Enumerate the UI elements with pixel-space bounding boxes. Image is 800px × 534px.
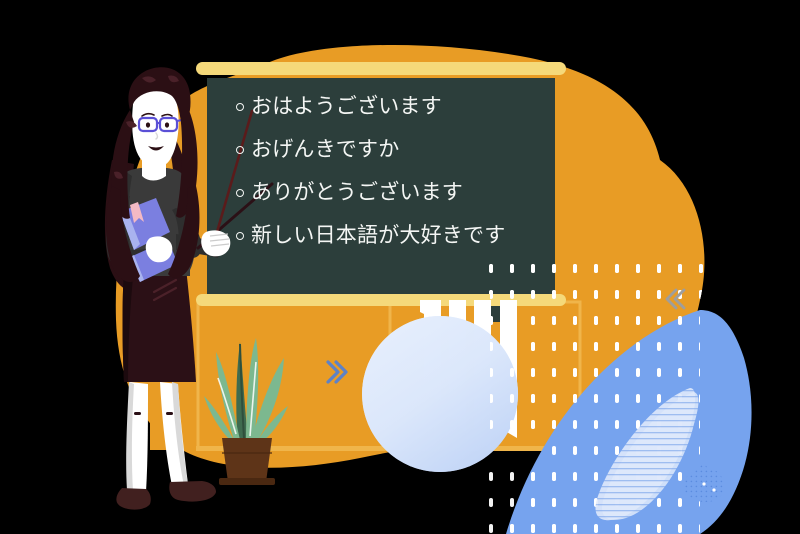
plant-pot xyxy=(219,438,275,485)
bottom-shadow xyxy=(116,460,150,473)
hand-right xyxy=(201,230,230,256)
blackboard-text-list: おはようございます おげんきですか ありがとうございます 新しい日本語が大好きで… xyxy=(236,96,566,268)
dot-pattern-lower xyxy=(480,460,570,534)
bullet-circle-icon xyxy=(236,103,244,111)
board-line-text: おはようございます xyxy=(251,96,442,117)
board-line[interactable]: おげんきですか xyxy=(236,139,566,160)
illustration-canvas: おはようございます おげんきですか ありがとうございます 新しい日本語が大好きで… xyxy=(0,0,800,534)
shoe-right xyxy=(169,481,216,502)
board-line[interactable]: おはようございます xyxy=(236,96,566,117)
shoe-left xyxy=(116,488,150,510)
board-line-text: ありがとうございます xyxy=(251,182,463,203)
bullet-circle-icon xyxy=(236,189,244,197)
board-line-text: おげんきですか xyxy=(251,139,399,160)
board-line[interactable]: ありがとうございます xyxy=(236,182,566,203)
bullet-circle-icon xyxy=(236,146,244,154)
bullet-circle-icon xyxy=(236,232,244,240)
board-top-rail xyxy=(196,62,566,75)
board-line[interactable]: 新しい日本語が大好きです xyxy=(236,225,566,246)
board-line-text: 新しい日本語が大好きです xyxy=(251,225,505,246)
